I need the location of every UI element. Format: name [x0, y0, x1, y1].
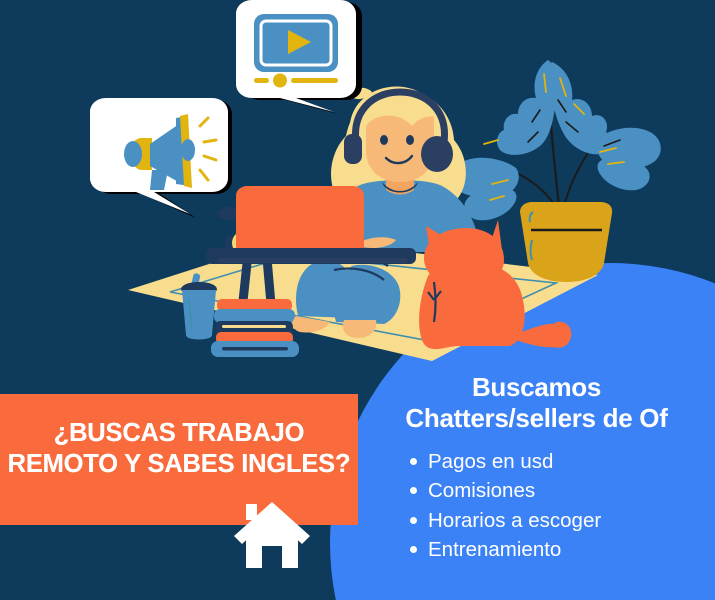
- banner-line-1: ¿BUSCAS TRABAJO: [0, 418, 358, 449]
- offer-headline-line-2: Chatters/sellers de Of: [358, 403, 715, 434]
- list-item: Pagos en usd: [410, 447, 715, 476]
- banner-line-2: REMOTO Y SABES INGLES?: [0, 449, 358, 480]
- list-item: Comisiones: [410, 476, 715, 505]
- video-player-bubble: [236, 0, 362, 114]
- house-icon: [232, 500, 312, 570]
- stack-of-books-icon: [211, 299, 299, 357]
- banner-headline: ¿BUSCAS TRABAJO REMOTO Y SABES INGLES?: [0, 418, 358, 480]
- offer-bullet-list: Pagos en usd Comisiones Horarios a escog…: [358, 447, 715, 563]
- offer-headline: Buscamos Chatters/sellers de Of: [358, 372, 715, 433]
- offer-headline-line-1: Buscamos: [358, 372, 715, 403]
- list-item: Entrenamiento: [410, 535, 715, 564]
- offer-copy: Buscamos Chatters/sellers de Of Pagos en…: [358, 372, 715, 564]
- megaphone-bubble: [90, 98, 232, 218]
- poster-canvas: ¿BUSCAS TRABAJO REMOTO Y SABES INGLES? B…: [0, 0, 715, 600]
- list-item: Horarios a escoger: [410, 506, 715, 535]
